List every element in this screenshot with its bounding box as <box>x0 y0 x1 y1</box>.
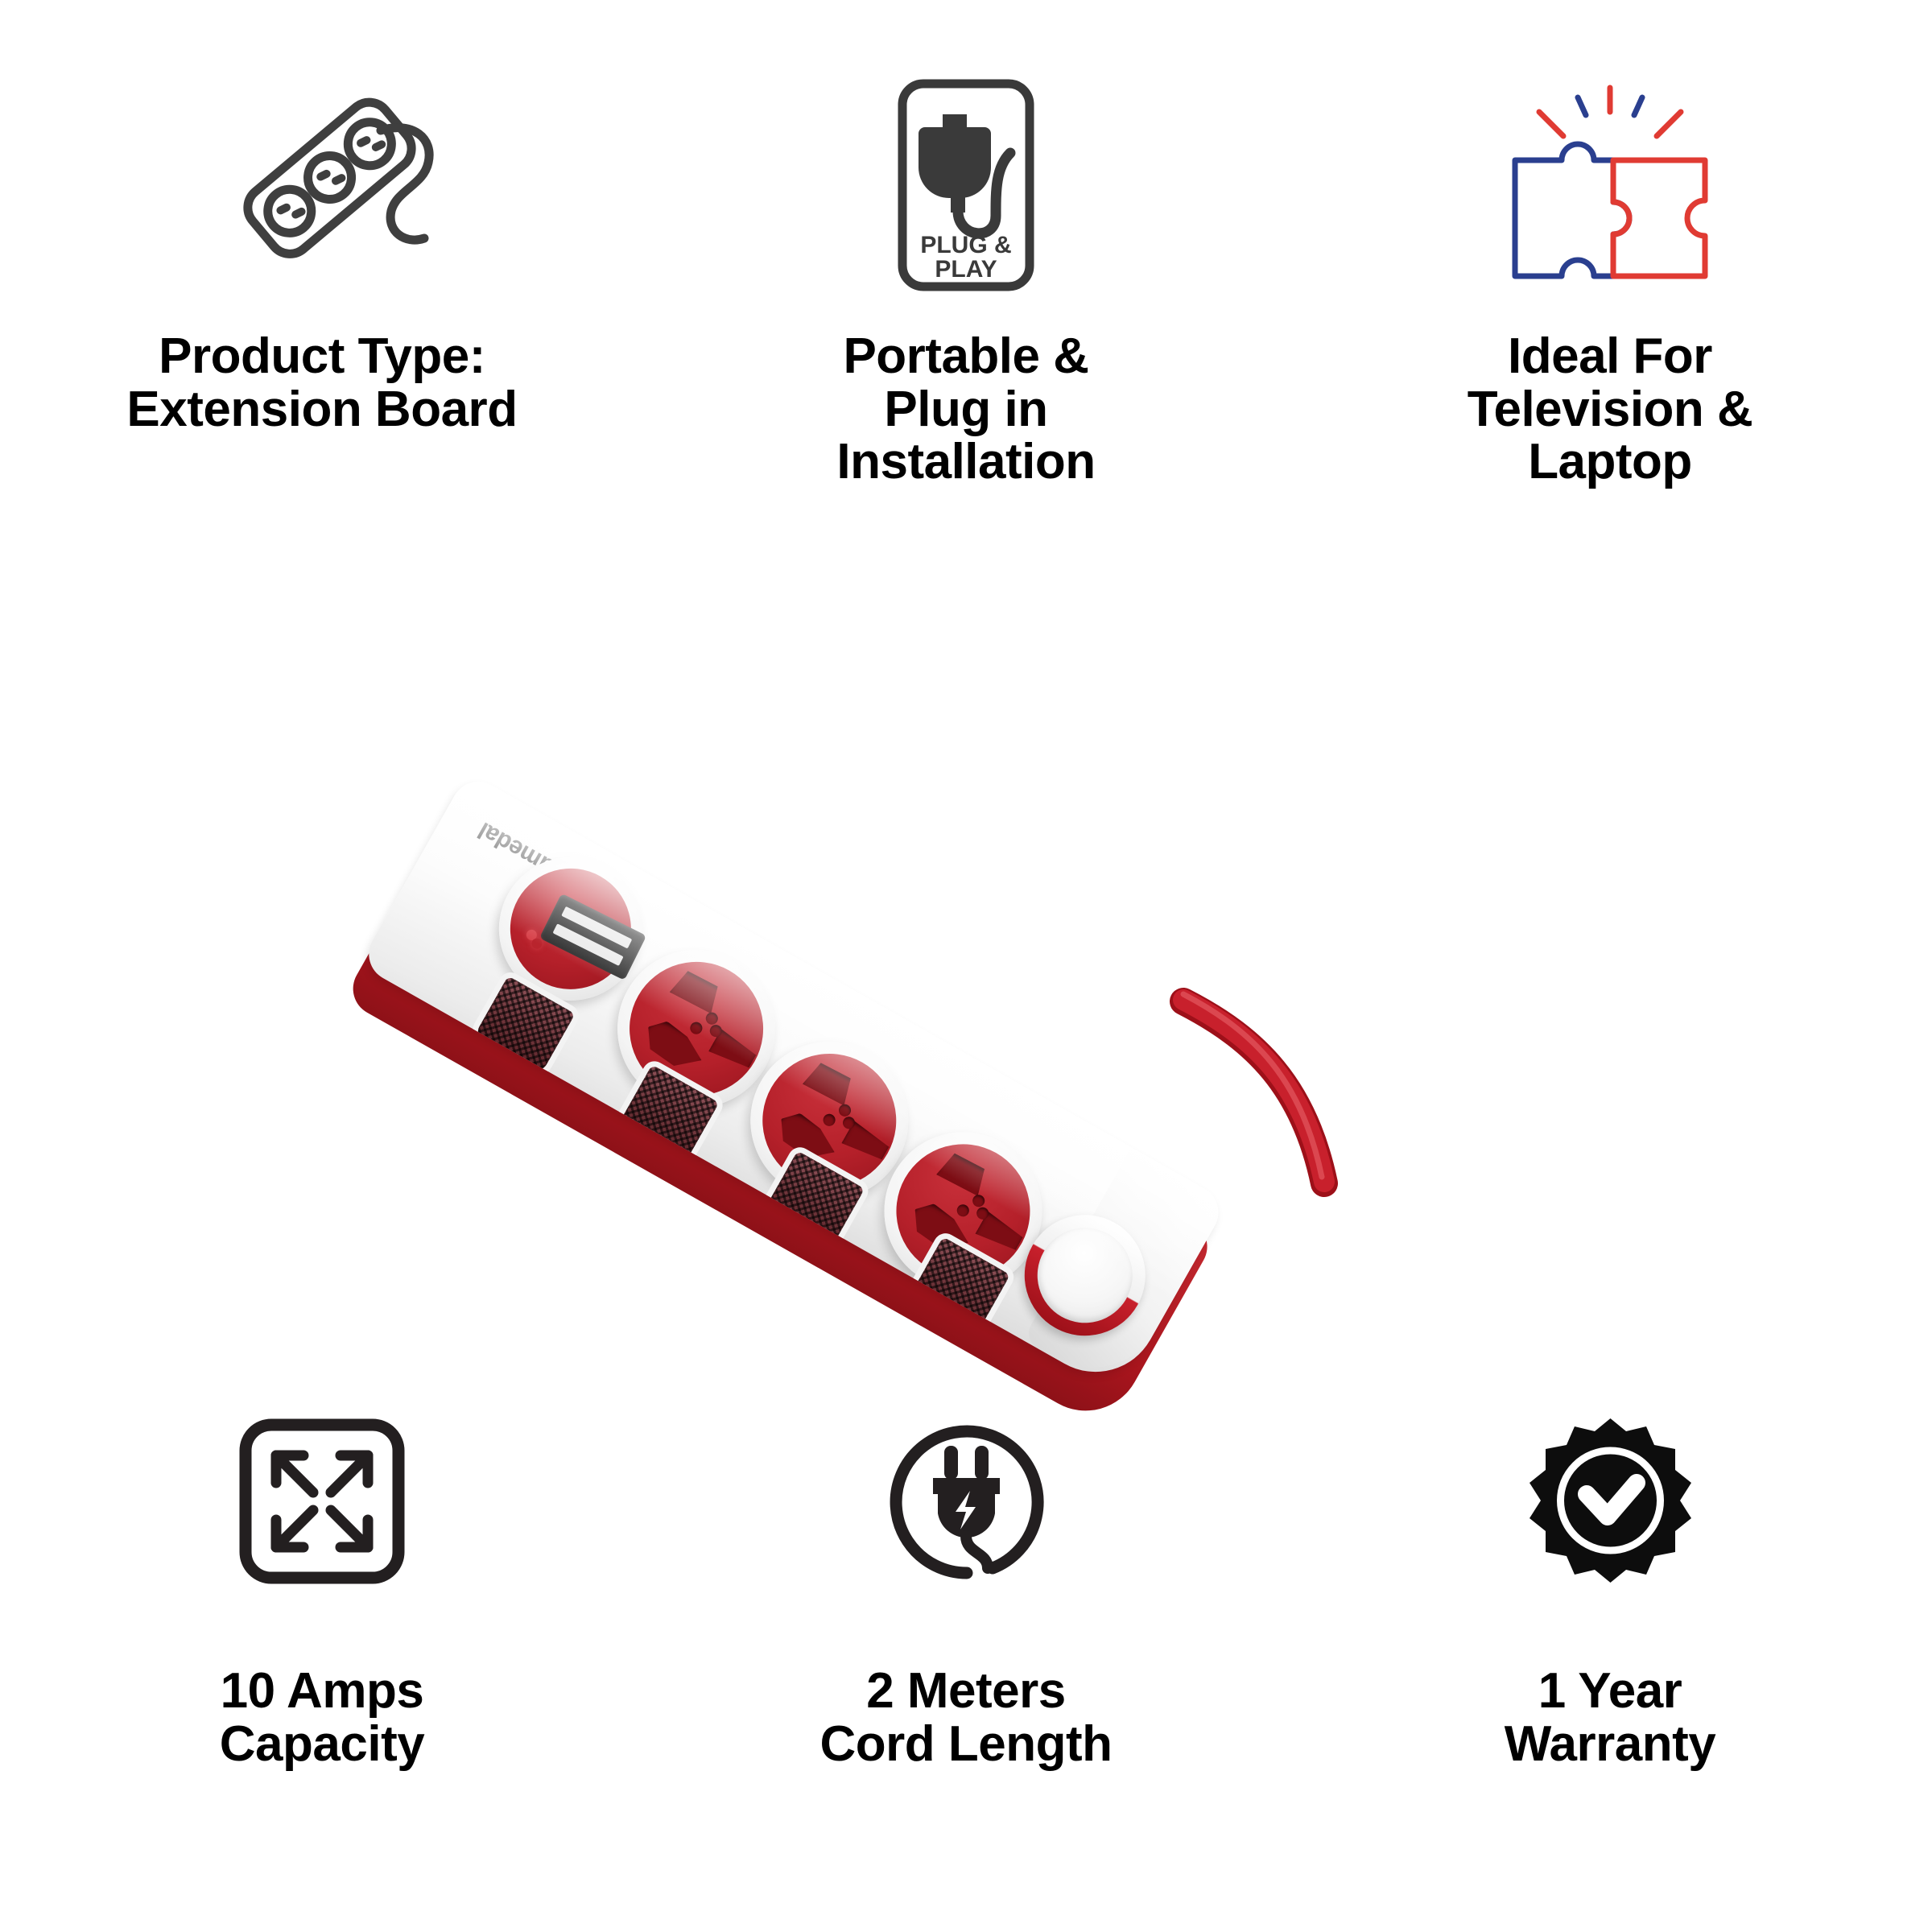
socket-hole-top <box>803 1059 857 1105</box>
extension-board-icon <box>205 64 439 306</box>
feature-warranty: 1 Year Warranty <box>1288 1368 1932 1900</box>
plug-play-badge-line-1: PLUG & <box>920 232 1011 258</box>
product-feature-infographic: Product Type: Extension Board PLUG & PLA… <box>0 0 1932 1932</box>
label-line: Installation <box>836 436 1095 489</box>
brand-mark-icon <box>588 882 616 910</box>
label-line: Portable & <box>836 330 1095 383</box>
label-line: Television & <box>1468 383 1753 436</box>
extension-board-product: Goldmedal <box>378 636 1425 1248</box>
socket-hole-top <box>670 968 724 1013</box>
bottom-feature-row: 10 Amps Capacity <box>0 1368 1932 1900</box>
label-line: Warranty <box>1505 1718 1715 1771</box>
label-line: Laptop <box>1468 436 1753 489</box>
label-line: Plug in <box>836 383 1095 436</box>
board-top-shell: Goldmedal <box>359 772 1228 1395</box>
feature-cord-length-label: 2 Meters Cord Length <box>820 1665 1113 1770</box>
feature-product-type-label: Product Type: Extension Board <box>126 330 517 436</box>
label-line: Ideal For <box>1468 330 1753 383</box>
socket-pin <box>708 1023 724 1039</box>
expand-arrows-icon <box>237 1368 407 1634</box>
label-line: Capacity <box>220 1718 424 1771</box>
socket-pin <box>821 1112 837 1128</box>
socket-pin <box>704 1010 720 1026</box>
brand-logo: Goldmedal <box>474 816 617 914</box>
plug-cord-icon <box>880 1368 1053 1634</box>
plug-and-play-icon: PLUG & PLAY <box>873 64 1059 306</box>
socket-pin <box>688 1020 704 1036</box>
label-line: Cord Length <box>820 1718 1113 1771</box>
feature-capacity-label: 10 Amps Capacity <box>220 1665 424 1770</box>
socket-hole-right <box>708 1029 759 1072</box>
feature-warranty-label: 1 Year Warranty <box>1505 1665 1715 1770</box>
feature-cord-length: 2 Meters Cord Length <box>644 1368 1288 1900</box>
usb-indicator-led <box>524 928 539 943</box>
label-line: 1 Year <box>1505 1665 1715 1718</box>
socket-hole-top <box>936 1150 990 1196</box>
label-line: Product Type: <box>126 330 517 383</box>
label-line: Extension Board <box>126 383 517 436</box>
board-body: Goldmedal <box>353 772 1232 1407</box>
warranty-badge-icon <box>1524 1368 1697 1634</box>
puzzle-pieces-icon <box>1489 64 1731 306</box>
socket-hole-lower <box>638 1014 710 1076</box>
top-feature-row: Product Type: Extension Board PLUG & PLA… <box>0 64 1932 596</box>
feature-portable-plug-in: PLUG & PLAY Portable & Plug in Installat… <box>644 64 1288 596</box>
brand-name: Goldmedal <box>474 816 593 900</box>
socket-pin <box>971 1192 987 1208</box>
label-line: 10 Amps <box>220 1665 424 1718</box>
socket-pin <box>955 1202 971 1218</box>
socket-pin <box>837 1102 853 1118</box>
feature-ideal-for: Ideal For Television & Laptop <box>1288 64 1932 596</box>
usb-indicator-led-secondary <box>530 936 544 951</box>
feature-capacity: 10 Amps Capacity <box>0 1368 644 1900</box>
label-line: 2 Meters <box>820 1665 1113 1718</box>
feature-portable-plug-in-label: Portable & Plug in Installation <box>836 330 1095 489</box>
plug-play-badge-line-2: PLAY <box>935 256 997 283</box>
usb-ports-icon <box>539 894 646 980</box>
feature-product-type: Product Type: Extension Board <box>0 64 644 596</box>
product-image-stage: Goldmedal <box>0 612 1932 1368</box>
feature-ideal-for-label: Ideal For Television & Laptop <box>1468 330 1753 489</box>
